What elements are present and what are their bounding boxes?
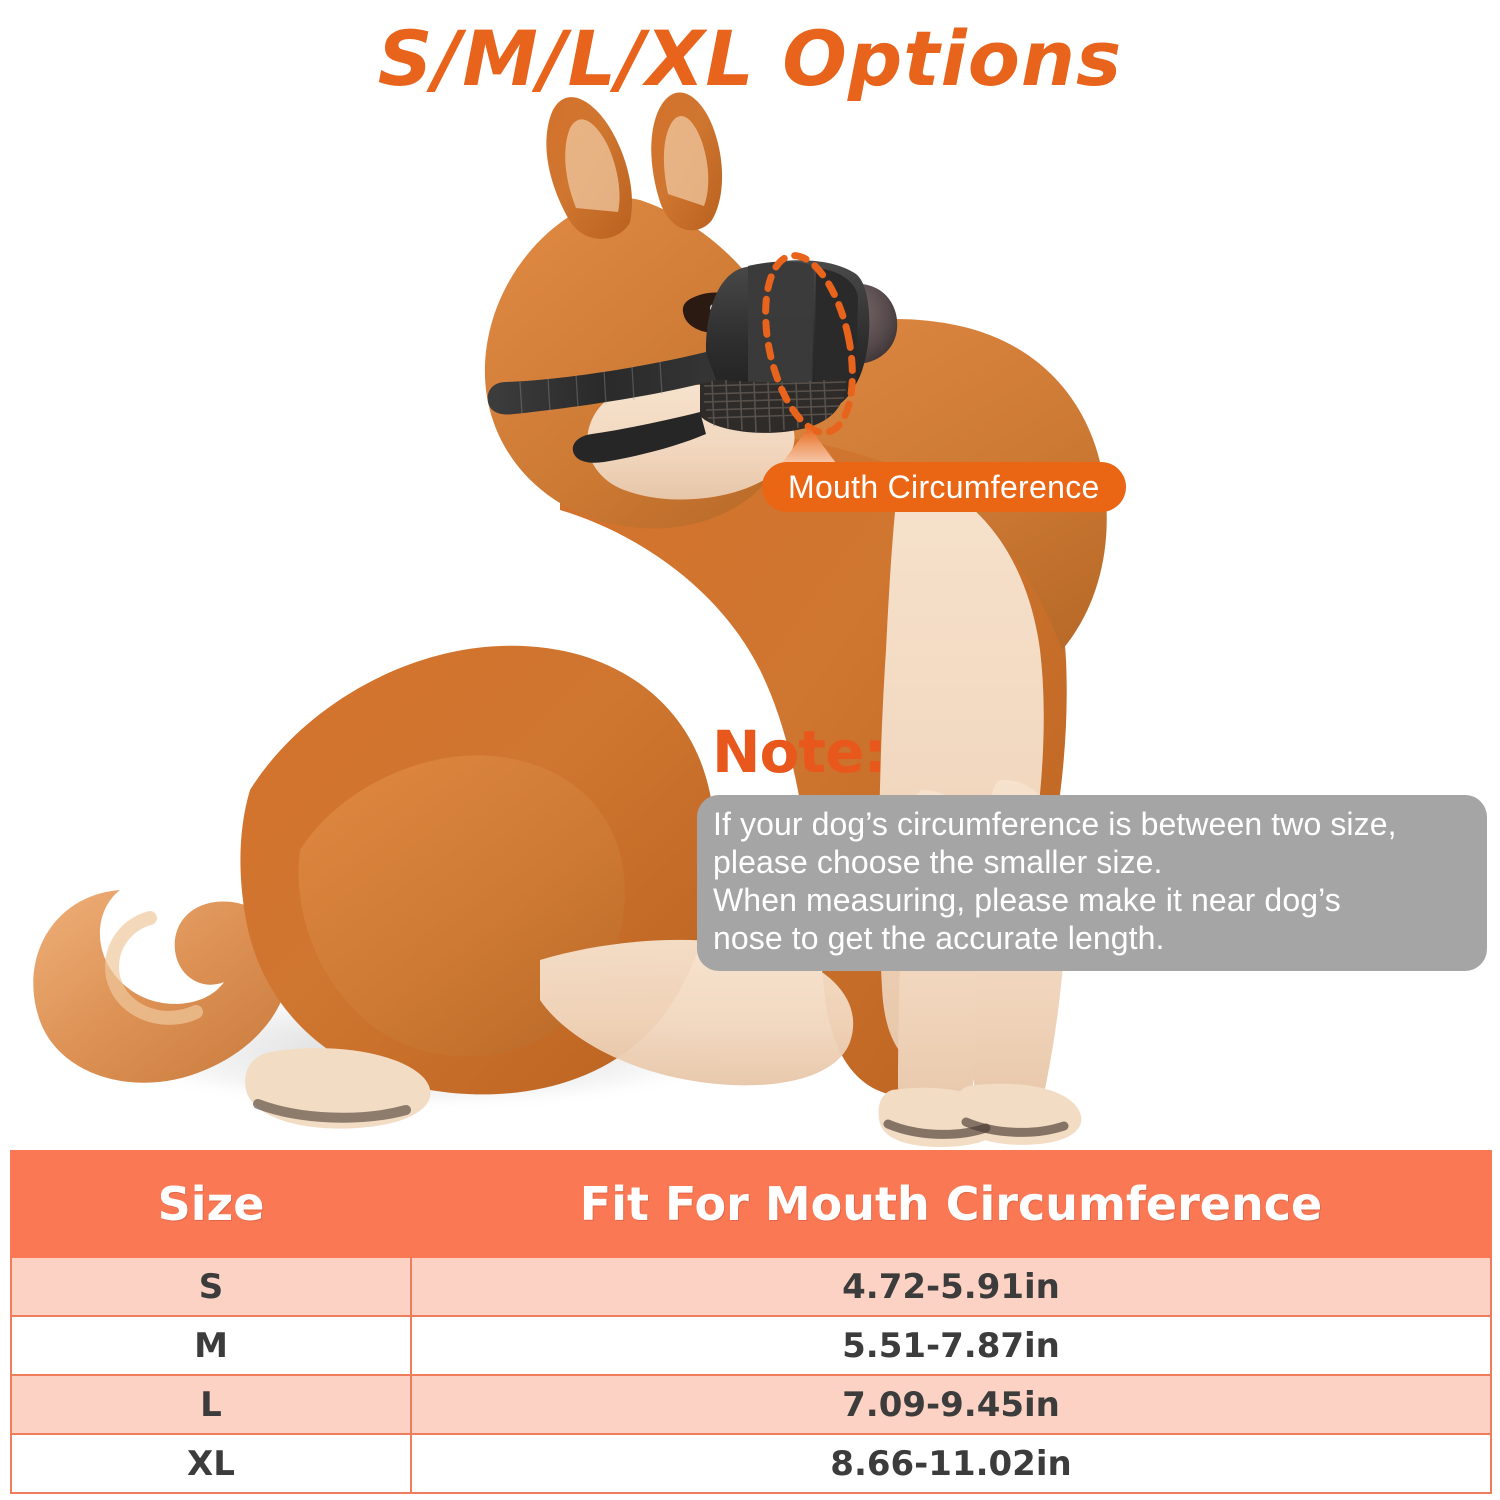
note-line: nose to get the accurate length. <box>713 919 1469 957</box>
product-photo: Mouth Circumference <box>0 90 1500 1150</box>
column-header-size: Size <box>11 1151 411 1257</box>
dog-photo-illustration <box>0 90 1500 1150</box>
table-row: L 7.09-9.45in <box>11 1375 1491 1434</box>
product-size-chart-infographic: S/M/L/XL Options <box>0 0 1500 1500</box>
cell-fit: 5.51-7.87in <box>411 1316 1491 1375</box>
mouth-circumference-badge: Mouth Circumference <box>762 462 1126 512</box>
cell-size: M <box>11 1316 411 1375</box>
note-line: please choose the smaller size. <box>713 843 1469 881</box>
mouth-circumference-badge-label: Mouth Circumference <box>788 469 1100 506</box>
cell-size: XL <box>11 1434 411 1493</box>
table-header-row: Size Fit For Mouth Circumference <box>11 1151 1491 1257</box>
size-chart-table: Size Fit For Mouth Circumference S 4.72-… <box>10 1150 1492 1494</box>
note-heading: Note: <box>712 718 886 786</box>
column-header-fit: Fit For Mouth Circumference <box>411 1151 1491 1257</box>
cell-fit: 7.09-9.45in <box>411 1375 1491 1434</box>
note-box: If your dog’s circumference is between t… <box>697 795 1487 971</box>
cell-fit: 4.72-5.91in <box>411 1257 1491 1316</box>
cell-size: S <box>11 1257 411 1316</box>
note-line: When measuring, please make it near dog’… <box>713 881 1469 919</box>
note-line: If your dog’s circumference is between t… <box>713 805 1469 843</box>
table-row: M 5.51-7.87in <box>11 1316 1491 1375</box>
cell-fit: 8.66-11.02in <box>411 1434 1491 1493</box>
table-row: XL 8.66-11.02in <box>11 1434 1491 1493</box>
dog-body <box>33 93 1106 1147</box>
table-row: S 4.72-5.91in <box>11 1257 1491 1316</box>
cell-size: L <box>11 1375 411 1434</box>
